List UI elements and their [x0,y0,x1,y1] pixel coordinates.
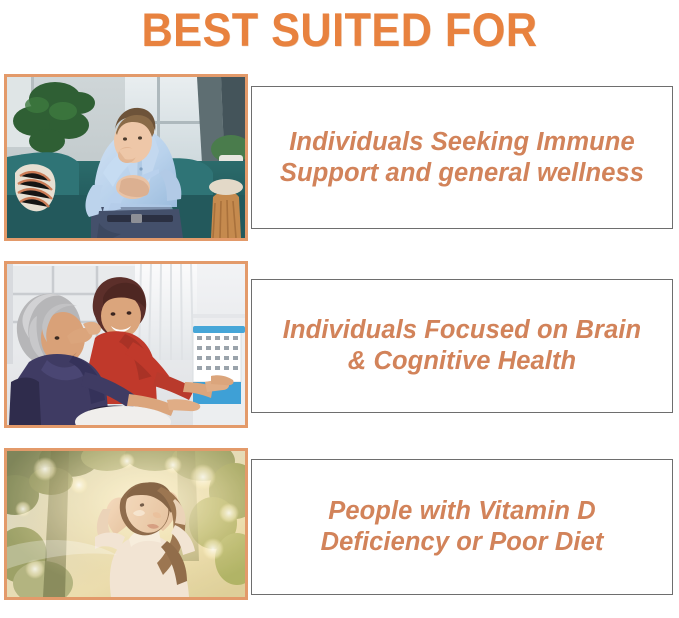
text-box-vitamin-d-deficiency: People with Vitamin D Deficiency or Poor… [251,459,673,595]
list-item: Individuals Seeking Immune Support and g… [0,74,679,241]
page-title: BEST SUITED FOR [27,0,652,60]
list-item: People with Vitamin D Deficiency or Poor… [0,448,679,600]
text-box-brain-cognitive-health: Individuals Focused on Brain & Cognitive… [251,279,673,413]
photo-immune-support-image [7,77,245,238]
photo-vitamin-d-deficiency-image [7,451,245,597]
text-box-label: People with Vitamin D Deficiency or Poor… [321,496,604,558]
photo-brain-cognitive-health-image [7,264,245,425]
photo-vitamin-d-deficiency [4,448,248,600]
photo-immune-support [4,74,248,241]
text-box-label: Individuals Focused on Brain & Cognitive… [283,315,641,377]
photo-brain-cognitive-health [4,261,248,428]
text-box-immune-support: Individuals Seeking Immune Support and g… [251,86,673,229]
text-box-label: Individuals Seeking Immune Support and g… [280,127,644,189]
list-item: Individuals Focused on Brain & Cognitive… [0,261,679,428]
